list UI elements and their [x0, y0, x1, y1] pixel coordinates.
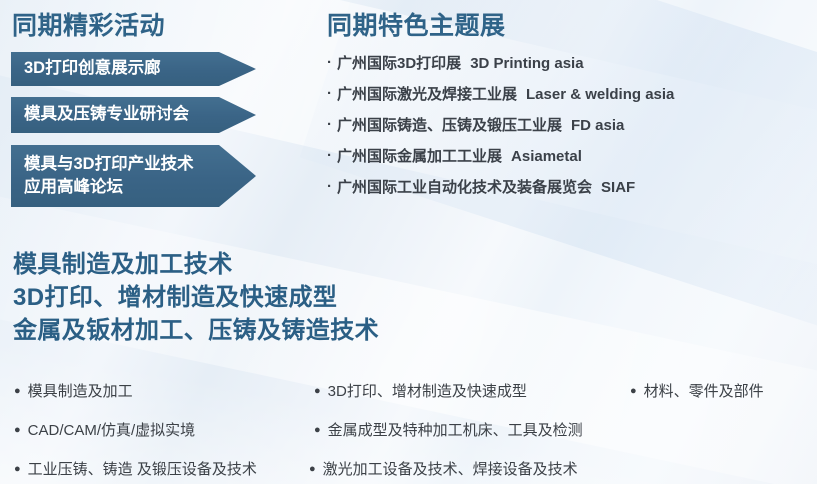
category-label: CAD/CAM/仿真/虚拟实境 [28, 419, 196, 440]
list-item[interactable]: · 广州国际激光及焊接工业展 Laser & welding asia [327, 83, 807, 114]
category-item[interactable]: ● 3D打印、增材制造及快速成型 [314, 380, 527, 401]
category-item[interactable]: ● 金属成型及特种加工机床、工具及检测 [314, 419, 583, 440]
bullet-disc-icon: ● [314, 425, 321, 436]
event-banner-list: 3D打印创意展示廊 模具及压铸专业研讨会 模具与3D打印产业技术 应用高峰论坛 [11, 52, 311, 207]
event-banner-2-label: 模具及压铸专业研讨会 [24, 104, 189, 126]
exhibition-name-cn: 广州国际3D打印展 [337, 52, 461, 73]
topic-heading-block: 模具制造及加工技术 3D打印、增材制造及快速成型 金属及钣材加工、压铸及铸造技术 [13, 248, 379, 347]
exhibition-name-cn: 广州国际激光及焊接工业展 [337, 83, 517, 104]
category-label: 3D打印、增材制造及快速成型 [328, 380, 527, 401]
bullet-disc-icon: ● [14, 464, 21, 475]
category-item[interactable]: ● CAD/CAM/仿真/虚拟实境 [14, 419, 195, 440]
bullet-disc-icon: ● [630, 386, 637, 397]
exhibition-name-en: SIAF [601, 179, 635, 196]
exhibition-name-cn: 广州国际铸造、压铸及锻压工业展 [337, 114, 562, 135]
bullet-disc-icon: ● [14, 386, 21, 397]
category-label: 金属成型及特种加工机床、工具及检测 [328, 419, 583, 440]
bullet-dot-icon: · [327, 117, 337, 132]
event-banner-3[interactable]: 模具与3D打印产业技术 应用高峰论坛 [11, 145, 256, 207]
event-banner-3-label-line2: 应用高峰论坛 [24, 176, 194, 199]
topic-heading-line-3: 金属及钣材加工、压铸及铸造技术 [13, 314, 379, 347]
category-item[interactable]: ● 激光加工设备及技术、焊接设备及技术 [309, 458, 578, 479]
event-banner-3-label-line1: 模具与3D打印产业技术 [24, 153, 194, 176]
category-grid: ● 模具制造及加工 ● CAD/CAM/仿真/虚拟实境 ● 工业压铸、铸造 及锻… [0, 373, 817, 484]
event-banner-2[interactable]: 模具及压铸专业研讨会 [11, 97, 256, 133]
exhibition-name-en: Asiametal [511, 148, 582, 165]
category-label: 工业压铸、铸造 及锻压设备及技术 [28, 458, 257, 479]
bullet-dot-icon: · [327, 148, 337, 163]
topic-heading-line-1: 模具制造及加工技术 [13, 248, 379, 281]
exhibition-name-en: Laser & welding asia [526, 86, 674, 103]
category-item[interactable]: ● 模具制造及加工 [14, 380, 133, 401]
event-banner-1[interactable]: 3D打印创意展示廊 [11, 52, 256, 86]
themed-exhibitions-heading: 同期特色主题展 [327, 6, 506, 42]
bullet-disc-icon: ● [14, 425, 21, 436]
list-item[interactable]: · 广州国际3D打印展 3D Printing asia [327, 52, 807, 83]
concurrent-events-heading: 同期精彩活动 [12, 6, 165, 42]
bullet-dot-icon: · [327, 86, 337, 101]
list-item[interactable]: · 广州国际铸造、压铸及锻压工业展 FD asia [327, 114, 807, 145]
list-item[interactable]: · 广州国际工业自动化技术及装备展览会 SIAF [327, 176, 807, 207]
bullet-dot-icon: · [327, 55, 337, 70]
themed-exhibition-list: · 广州国际3D打印展 3D Printing asia · 广州国际激光及焊接… [327, 52, 807, 207]
bullet-disc-icon: ● [314, 386, 321, 397]
exhibition-name-cn: 广州国际工业自动化技术及装备展览会 [337, 176, 592, 197]
exhibition-name-en: FD asia [571, 117, 624, 134]
category-item[interactable]: ● 工业压铸、铸造 及锻压设备及技术 [14, 458, 257, 479]
category-label: 材料、零件及部件 [644, 380, 764, 401]
event-banner-1-label: 3D打印创意展示廊 [24, 58, 161, 80]
poster-canvas: 同期精彩活动 同期特色主题展 3D打印创意展示廊 模具及压铸专业研讨会 模具与3… [0, 0, 817, 484]
bullet-dot-icon: · [327, 179, 337, 194]
category-label: 激光加工设备及技术、焊接设备及技术 [323, 458, 578, 479]
category-label: 模具制造及加工 [28, 380, 133, 401]
exhibition-name-en: 3D Printing asia [470, 55, 583, 72]
exhibition-name-cn: 广州国际金属加工工业展 [337, 145, 502, 166]
list-item[interactable]: · 广州国际金属加工工业展 Asiametal [327, 145, 807, 176]
bullet-disc-icon: ● [309, 464, 316, 475]
topic-heading-line-2: 3D打印、增材制造及快速成型 [13, 281, 379, 314]
category-item[interactable]: ● 材料、零件及部件 [630, 380, 764, 401]
